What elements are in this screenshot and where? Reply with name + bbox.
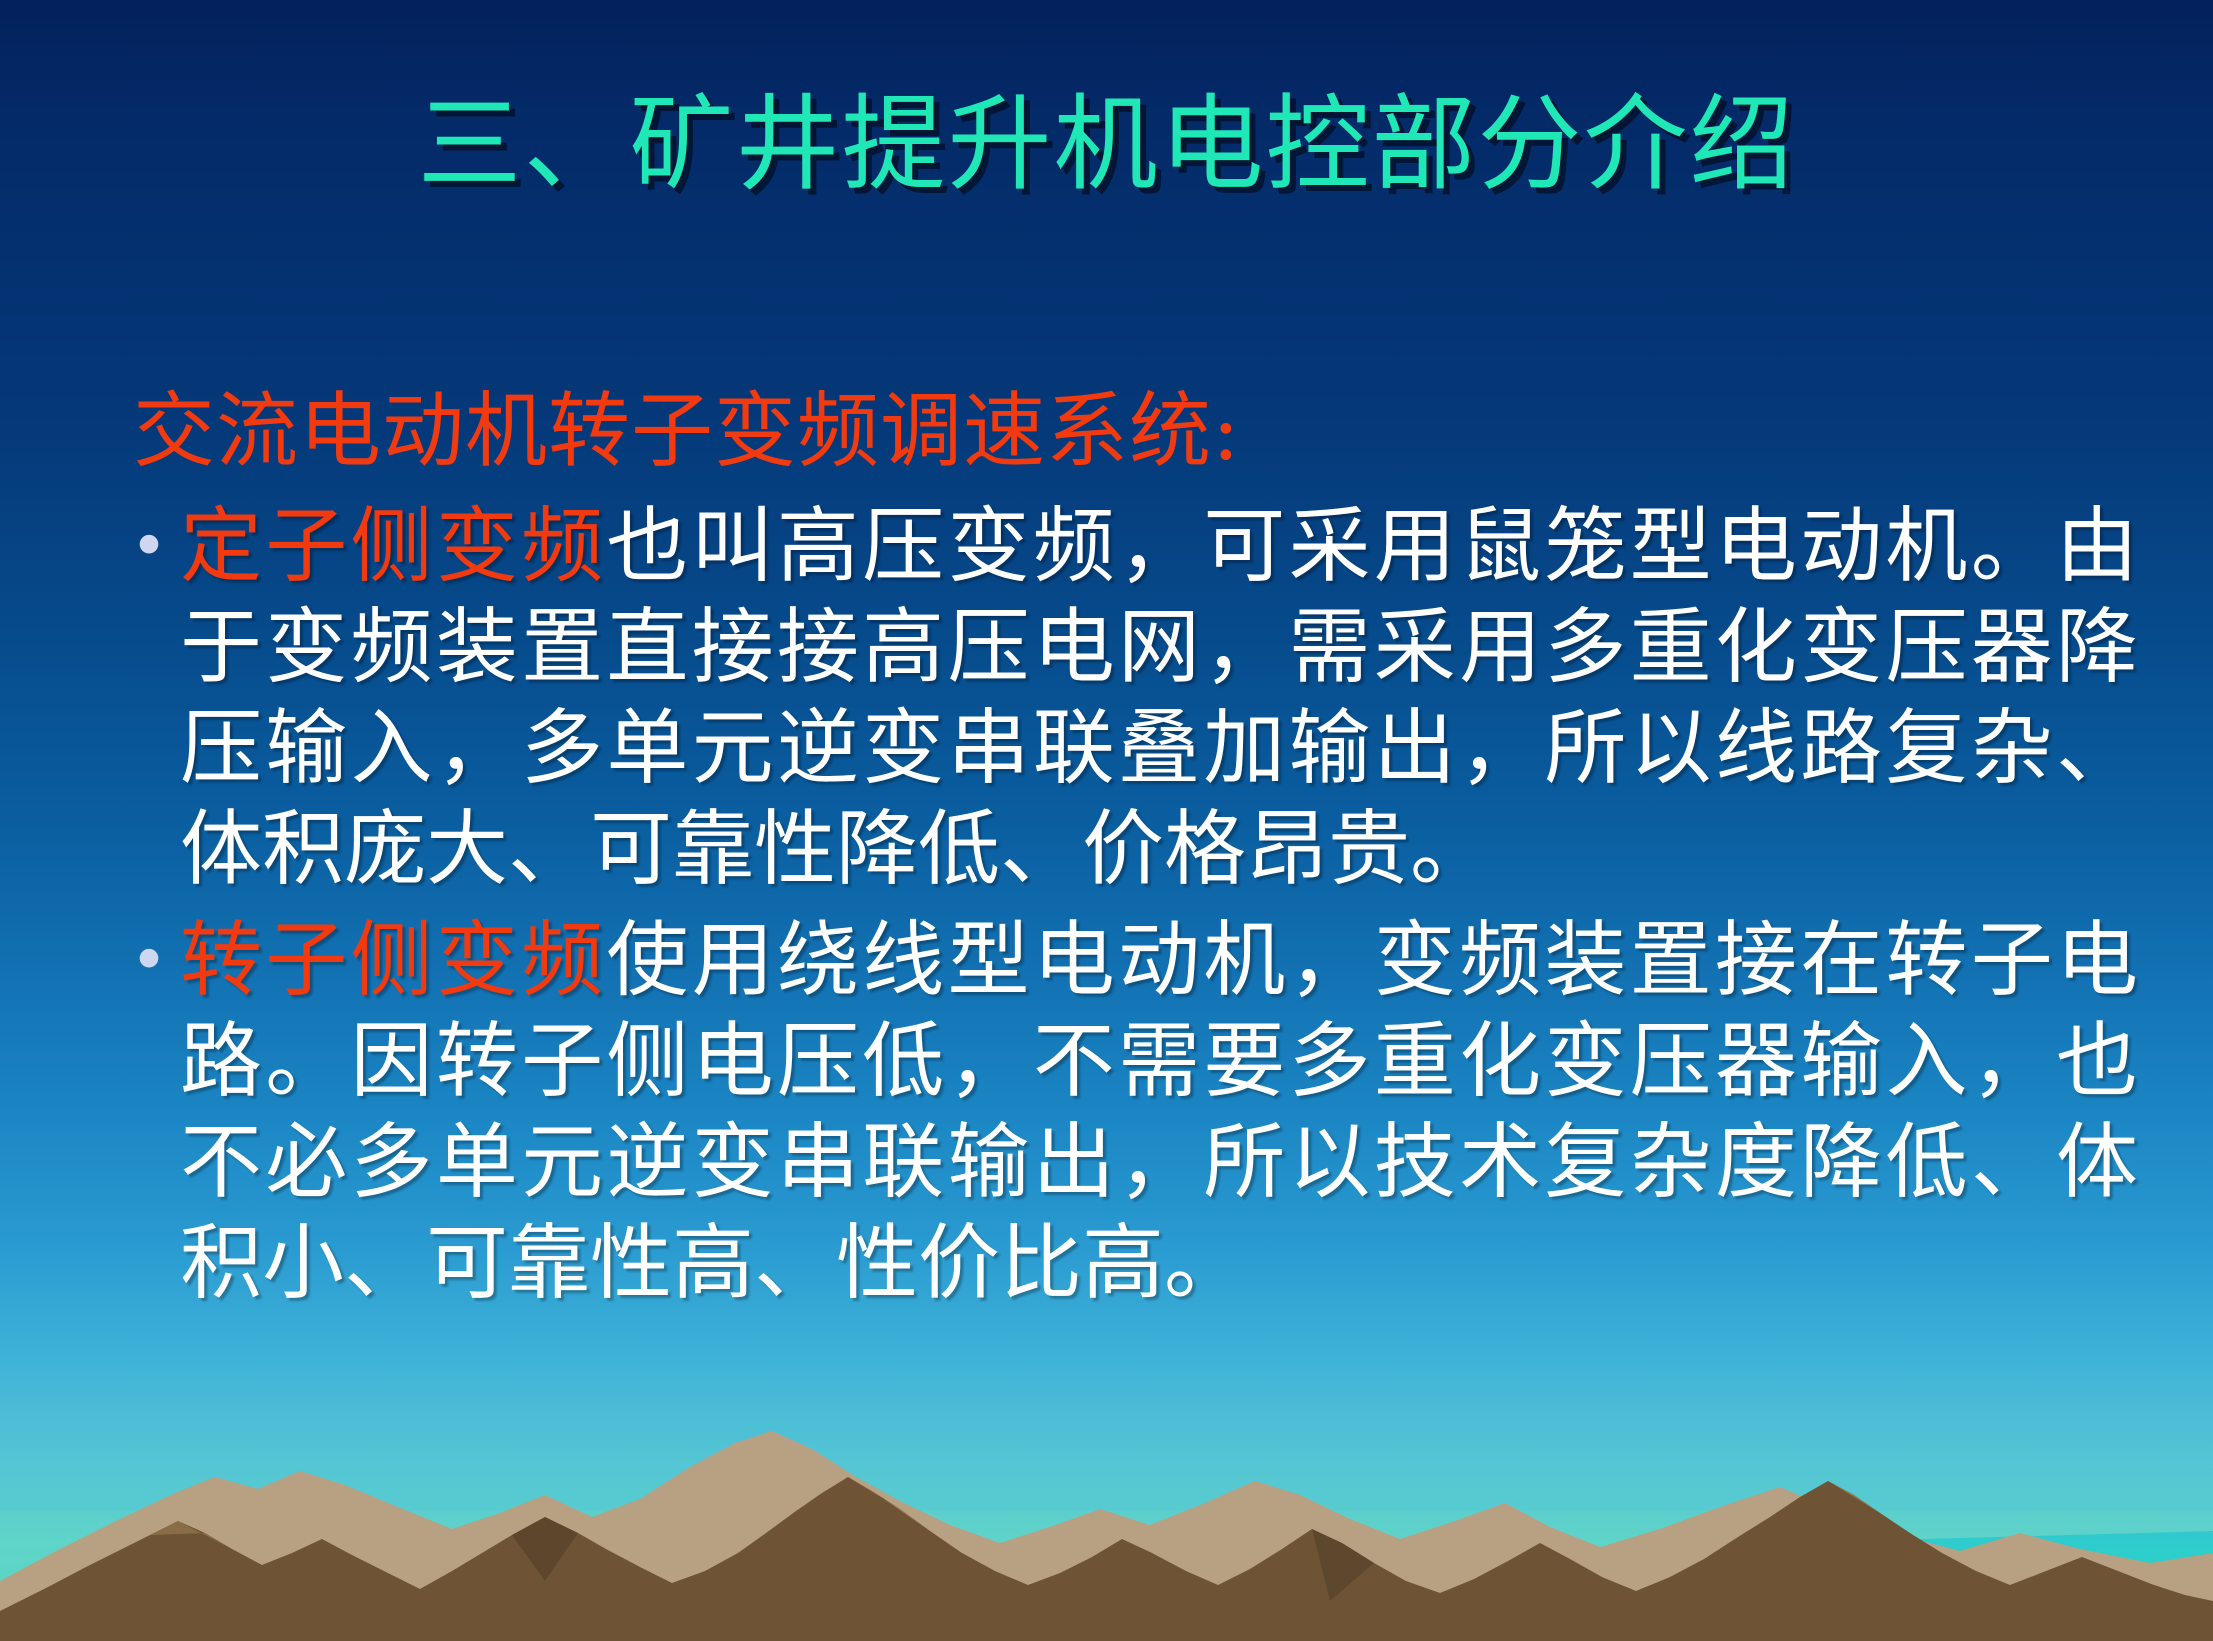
bullet-item-2: • 转子侧变频使用绕线型电动机，变频装置接在转子电路。因转子侧电压低，不需要多重… [118, 910, 2138, 1314]
mountain-facet-c [1828, 1481, 1910, 1533]
bullet-text-2: 转子侧变频使用绕线型电动机，变频装置接在转子电路。因转子侧电压低，不需要多重化变… [180, 910, 2138, 1314]
water-band-right [1560, 1531, 2213, 1641]
slide-title: 三、矿井提升机电控部分介绍 [0, 86, 2213, 202]
presentation-slide: 三、矿井提升机电控部分介绍 交流电动机转子变频调速系统: • 定子侧变频也叫高压… [0, 0, 2213, 1641]
mountain-ridge-dark [0, 1477, 2213, 1641]
mountain-facet-d [512, 1517, 578, 1581]
body-subheading: 交流电动机转子变频调速系统: [133, 386, 2138, 478]
mountain-facet-e [1312, 1529, 1374, 1601]
slide-body: 交流电动机转子变频调速系统: • 定子侧变频也叫高压变频，可采用鼠笼型电动机。由… [118, 386, 2138, 1324]
bullet-text-1: 定子侧变频也叫高压变频，可采用鼠笼型电动机。由于变频装置直接接高压电网，需采用多… [180, 496, 2138, 900]
mountain-facet-b [848, 1477, 930, 1531]
bullet-item-1: • 定子侧变频也叫高压变频，可采用鼠笼型电动机。由于变频装置直接接高压电网，需采… [118, 496, 2138, 900]
bullet-highlight-1: 定子侧变频 [180, 499, 606, 594]
bullet-marker-icon: • [118, 496, 180, 598]
mountain-facet-a [150, 1521, 232, 1549]
water-band [0, 1593, 2213, 1641]
bullet-marker-icon: • [118, 910, 180, 1012]
scenery-graphic [0, 1281, 2213, 1641]
mountain-ridge-light [0, 1431, 2213, 1641]
bullet-highlight-2: 转子侧变频 [180, 913, 606, 1008]
